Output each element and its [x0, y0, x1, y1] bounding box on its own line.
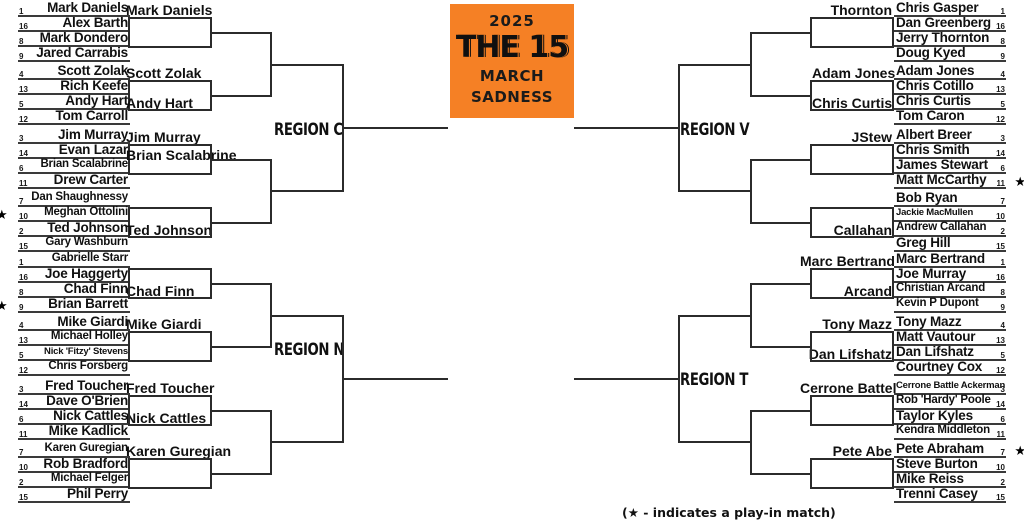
r2-winner[interactable]: Mark Daniels — [126, 3, 212, 18]
competitor-name: Andy Hart — [65, 93, 128, 108]
connector — [128, 80, 212, 82]
competitor-name: Drew Carter — [54, 172, 128, 187]
seed: 1 — [1001, 8, 1005, 16]
seed: 8 — [19, 38, 23, 46]
connector — [574, 378, 680, 380]
seed: 15 — [996, 243, 1005, 251]
competitor-name: Michael Holley — [51, 329, 128, 344]
competitor-name: Michael Felger — [51, 471, 128, 486]
connector — [270, 190, 344, 192]
competitor-name: Scott Zolak — [57, 63, 128, 78]
seed: 3 — [19, 386, 23, 394]
connector — [892, 268, 894, 299]
tournament-bracket: 2025 THE 15 MARCH SADNESS REGION C REGIO… — [0, 0, 1024, 528]
connector — [810, 331, 894, 333]
region-title-t: REGION T — [680, 370, 748, 390]
connector — [210, 283, 272, 285]
seed: 7 — [1001, 198, 1005, 206]
connector — [210, 410, 272, 412]
seed: 10 — [996, 213, 1005, 221]
r1-slot[interactable]: 12Chris Forsberg — [18, 360, 130, 376]
competitor-name: Steve Burton — [896, 456, 978, 471]
connector — [128, 458, 130, 489]
competitor-name: Jim Murray — [58, 127, 128, 142]
competitor-name: Joe Murray — [896, 266, 966, 281]
competitor-name: Pete Abraham — [896, 441, 984, 456]
connector — [810, 236, 894, 238]
seed: 2 — [1001, 228, 1005, 236]
connector — [810, 487, 894, 489]
seed: 1 — [19, 259, 23, 267]
seed: 4 — [1001, 71, 1005, 79]
seed: 6 — [1001, 165, 1005, 173]
seed: 15 — [19, 494, 28, 502]
seed: 9 — [19, 53, 23, 61]
competitor-name: Joe Haggerty — [45, 266, 128, 281]
seed: 2 — [19, 479, 23, 487]
seed: 6 — [19, 165, 23, 173]
seed: 16 — [996, 274, 1005, 282]
competitor-name: Taylor Kyles — [896, 408, 973, 423]
seed: 14 — [19, 150, 28, 158]
seed: 16 — [19, 23, 28, 31]
connector — [750, 159, 812, 161]
seed: 13 — [19, 86, 28, 94]
connector — [128, 331, 212, 333]
seed: 6 — [1001, 416, 1005, 424]
competitor-name: Andrew Callahan — [896, 220, 986, 235]
seed: 8 — [1001, 38, 1005, 46]
connector — [750, 283, 812, 285]
r2-winner[interactable]: Pete Abe — [800, 444, 892, 459]
connector — [810, 46, 894, 48]
connector — [892, 80, 894, 111]
connector — [678, 441, 752, 443]
competitor-name: Jerry Thornton — [896, 30, 989, 45]
seed: 9 — [19, 304, 23, 312]
seed: 12 — [996, 116, 1005, 124]
connector — [128, 360, 212, 362]
seed: 12 — [19, 367, 28, 375]
r2-winner[interactable]: Brian Scalabrine — [126, 148, 210, 162]
r2-winner[interactable]: Thornton — [812, 3, 892, 18]
region-title-n: REGION N — [274, 340, 344, 360]
seed: 11 — [997, 180, 1005, 188]
r1-slot[interactable]: 15Trenni Casey — [894, 487, 1006, 503]
competitor-name: Greg Hill — [896, 235, 950, 250]
connector — [128, 268, 212, 270]
connector — [342, 378, 448, 380]
connector — [892, 207, 894, 238]
seed: 9 — [1001, 304, 1005, 312]
logo-year: 2025 — [489, 12, 535, 30]
competitor-name: Fred Toucher — [45, 378, 128, 393]
seed: 2 — [1001, 479, 1005, 487]
connector — [810, 109, 894, 111]
seed: 10 — [19, 464, 28, 472]
connector — [750, 410, 812, 412]
competitor-name: Mike Giardi — [57, 314, 128, 329]
competitor-name: Rob Bradford — [43, 456, 128, 471]
competitor-name: Mike Kadlick — [49, 423, 128, 438]
seed: 1 — [1001, 259, 1005, 267]
play-in-star-icon: ★ — [0, 208, 8, 221]
seed: 15 — [19, 243, 28, 251]
connector — [128, 173, 212, 175]
seed: 10 — [996, 464, 1005, 472]
r2-winner[interactable]: Karen Guregian — [126, 444, 231, 459]
competitor-name: Gabrielle Starr — [52, 251, 128, 266]
seed: 4 — [1001, 322, 1005, 330]
connector — [128, 395, 212, 397]
region-title-v: REGION V — [680, 120, 749, 140]
connector — [210, 222, 272, 224]
r1-slot[interactable]: 9Kevin P Dupont — [894, 297, 1006, 313]
connector — [128, 236, 212, 238]
competitor-name: Chris Forsberg — [48, 359, 128, 374]
connector — [810, 207, 894, 209]
connector — [678, 190, 752, 192]
seed: 5 — [1001, 352, 1005, 360]
competitor-name: Matt McCarthy — [896, 172, 986, 187]
connector — [574, 127, 680, 129]
competitor-name: Dan Greenberg — [896, 15, 991, 30]
connector — [892, 331, 894, 362]
connector — [128, 395, 130, 426]
logo-title: THE 15 — [456, 31, 568, 65]
competitor-name: Brian Barrett — [48, 296, 128, 311]
connector — [678, 315, 752, 317]
competitor-name: Matt Vautour — [896, 329, 975, 344]
connector — [810, 395, 894, 397]
connector — [810, 424, 894, 426]
r1-slot[interactable]: 11Mike Kadlick — [18, 424, 130, 440]
seed: 14 — [19, 401, 28, 409]
competitor-name: Doug Kyed — [896, 45, 965, 60]
competitor-name: Alex Barth — [62, 15, 128, 30]
competitor-name: Courtney Cox — [896, 359, 982, 374]
competitor-name: Chad Finn — [64, 281, 128, 296]
seed: 11 — [19, 431, 27, 439]
competitor-name: Bob Ryan — [896, 190, 957, 205]
connector — [750, 32, 812, 34]
seed: 1 — [19, 8, 23, 16]
seed: 11 — [997, 431, 1005, 439]
r2-winner[interactable]: Mike Giardi — [126, 317, 201, 332]
seed: 9 — [1001, 53, 1005, 61]
competitor-name: Nick Cattles — [53, 408, 128, 423]
seed: 2 — [19, 228, 23, 236]
seed: 16 — [19, 274, 28, 282]
competitor-name: Rob 'Hardy' Poole — [896, 393, 991, 408]
play-in-legend: (★ - indicates a play-in match) — [622, 505, 836, 520]
connector — [128, 17, 130, 48]
seed: 4 — [19, 71, 23, 79]
logo-tagline: SADNESS — [471, 88, 553, 106]
connector — [210, 32, 272, 34]
connector — [892, 458, 894, 489]
connector — [892, 395, 894, 426]
seed: 5 — [1001, 101, 1005, 109]
region-title-c: REGION C — [274, 120, 343, 140]
competitor-name: Ted Johnson — [47, 220, 128, 235]
r1-slot[interactable]: 9Doug Kyed — [894, 46, 1006, 62]
competitor-name: Cerrone Battle Ackerman — [896, 378, 1005, 393]
competitor-name: Jared Carrabis — [36, 45, 128, 60]
r2-winner[interactable]: Tony Mazz — [800, 317, 892, 332]
r1-slot[interactable]: 15Greg Hill — [894, 236, 1006, 252]
connector — [210, 473, 272, 475]
connector — [342, 127, 448, 129]
competitor-name: Marc Bertrand — [896, 251, 985, 266]
r1-slot[interactable]: 15Phil Perry — [18, 487, 130, 503]
connector — [810, 17, 894, 19]
connector — [128, 331, 130, 362]
r1-slot[interactable]: 9Jared Carrabis — [18, 46, 130, 62]
r2-winner[interactable]: Jim Murray — [126, 130, 201, 145]
seed: 4 — [19, 322, 23, 330]
competitor-name: Dan Lifshatz — [896, 344, 974, 359]
connector — [128, 458, 212, 460]
r2-winner[interactable]: JStew — [812, 130, 892, 145]
seed: 7 — [19, 198, 23, 206]
seed: 13 — [996, 337, 1005, 345]
r2-winner[interactable]: Scott Zolak — [126, 66, 201, 81]
connector — [750, 473, 812, 475]
r2-winner[interactable]: Fred Toucher — [126, 381, 214, 396]
connector — [128, 46, 212, 48]
competitor-name: Mark Dondero — [40, 30, 128, 45]
connector — [210, 159, 272, 161]
competitor-name: Nick 'Fitzy' Stevens — [44, 344, 128, 359]
seed: 5 — [19, 101, 23, 109]
seed: 13 — [996, 86, 1005, 94]
seed: 6 — [19, 416, 23, 424]
r2-winner[interactable]: Marc Bertrand — [800, 254, 892, 269]
competitor-name: Kevin P Dupont — [896, 296, 979, 311]
seed: 15 — [996, 494, 1005, 502]
competitor-name: Albert Breer — [896, 127, 972, 142]
r1-slot[interactable]: 12Tom Carroll — [18, 109, 130, 125]
competitor-name: James Stewart — [896, 157, 988, 172]
competitor-name: Dave O'Brien — [46, 393, 128, 408]
competitor-name: Meghan Ottolini — [44, 205, 128, 220]
competitor-name: Chris Curtis — [896, 93, 971, 108]
connector — [270, 441, 344, 443]
connector — [810, 80, 894, 82]
connector — [128, 424, 212, 426]
logo-month: MARCH — [480, 67, 544, 85]
competitor-name: Tom Carroll — [55, 108, 128, 123]
seed: 12 — [996, 367, 1005, 375]
r1-slot[interactable]: 12Courtney Cox — [894, 360, 1006, 376]
connector — [128, 17, 212, 19]
seed: 16 — [996, 23, 1005, 31]
seed: 14 — [996, 150, 1005, 158]
connector — [210, 346, 272, 348]
connector — [750, 346, 812, 348]
r1-slot[interactable]: 11Drew Carter — [18, 173, 130, 189]
play-in-star-icon: ★ — [1014, 175, 1024, 188]
connector — [210, 95, 272, 97]
r1-slot[interactable]: 12Tom Caron — [894, 109, 1006, 125]
r1-slot[interactable]: 15Gary Washburn — [18, 236, 130, 252]
competitor-name: Gary Washburn — [45, 235, 128, 250]
seed: 12 — [19, 116, 28, 124]
competitor-name: Adam Jones — [896, 63, 974, 78]
connector — [810, 297, 894, 299]
play-in-star-icon: ★ — [1014, 444, 1024, 457]
seed: 7 — [1001, 449, 1005, 457]
competitor-name: Mike Reiss — [896, 471, 964, 486]
r1-slot[interactable]: ★9Brian Barrett — [18, 297, 130, 313]
seed: 3 — [1001, 135, 1005, 143]
connector — [750, 95, 812, 97]
r2-winner[interactable]: Adam Jones — [812, 66, 892, 81]
competitor-name: Chris Cotillo — [896, 78, 974, 93]
competitor-name: Trenni Casey — [896, 486, 978, 501]
connector — [810, 268, 894, 270]
competitor-name: Evan Lazar — [59, 142, 128, 157]
seed: 7 — [19, 449, 23, 457]
connector — [128, 297, 212, 299]
competitor-name: Tom Caron — [896, 108, 964, 123]
connector — [810, 360, 894, 362]
competitor-name: Chris Gasper — [896, 0, 978, 15]
connector — [128, 207, 212, 209]
competitor-name: Mark Daniels — [47, 0, 128, 15]
competitor-name: Rich Keefe — [60, 78, 128, 93]
competitor-name: Dan Shaughnessy — [31, 190, 128, 205]
connector — [270, 315, 344, 317]
seed: 5 — [19, 352, 23, 360]
connector — [810, 173, 894, 175]
play-in-star-icon: ★ — [0, 299, 8, 312]
seed: 13 — [19, 337, 28, 345]
connector — [810, 144, 894, 146]
r1-slot[interactable]: 11Kendra Middleton — [894, 424, 1006, 440]
competitor-name: Jackie MacMullen — [896, 205, 973, 220]
seed: 11 — [19, 180, 27, 188]
tournament-logo: 2025 THE 15 MARCH SADNESS — [450, 4, 574, 118]
connector — [128, 268, 130, 299]
r2-winner[interactable]: Cerrone Battel — [800, 381, 892, 396]
competitor-name: Karen Guregian — [45, 441, 128, 456]
connector — [678, 64, 752, 66]
r1-slot[interactable]: ★11Matt McCarthy — [894, 173, 1006, 189]
seed: 10 — [19, 213, 28, 221]
connector — [750, 222, 812, 224]
connector — [270, 64, 344, 66]
competitor-name: Christian Arcand — [896, 281, 985, 296]
seed: 8 — [1001, 289, 1005, 297]
connector — [892, 17, 894, 48]
seed: 14 — [996, 401, 1005, 409]
connector — [892, 144, 894, 175]
connector — [128, 144, 212, 146]
connector — [128, 487, 212, 489]
competitor-name: Kendra Middleton — [896, 423, 990, 438]
seed: 3 — [19, 135, 23, 143]
connector — [810, 458, 894, 460]
competitor-name: Chris Smith — [896, 142, 970, 157]
competitor-name: Tony Mazz — [896, 314, 961, 329]
competitor-name: Phil Perry — [67, 486, 128, 501]
competitor-name: Brian Scalabrine — [40, 157, 128, 172]
seed: 8 — [19, 289, 23, 297]
connector — [128, 109, 212, 111]
